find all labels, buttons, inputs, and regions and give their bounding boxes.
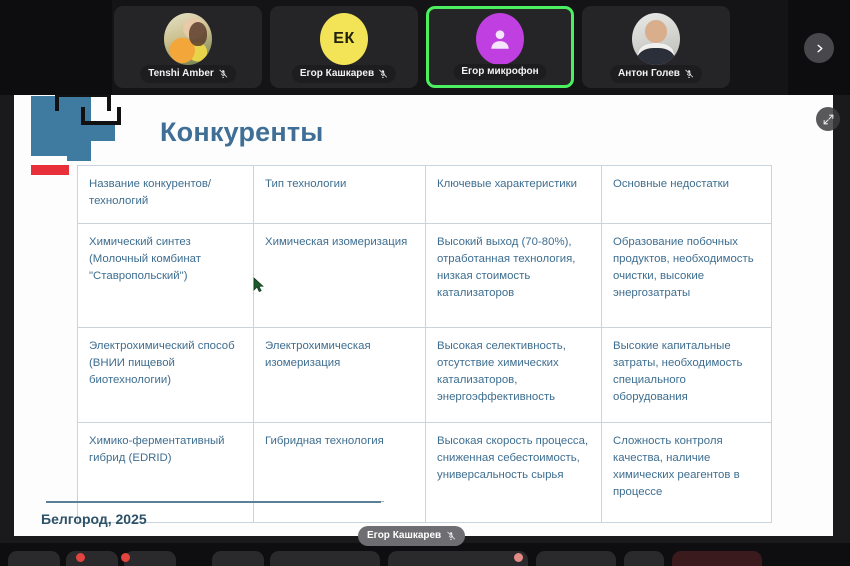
table-row: Химико-ферментативный гибрид (EDRID) Гиб… — [78, 423, 772, 523]
cell-features: Высокая скорость процесса, сниженная себ… — [426, 423, 602, 523]
avatar-initials: ЕК — [320, 13, 368, 65]
toolbar-button-3[interactable] — [124, 551, 176, 566]
participant-name-pill: Антон Голев — [610, 65, 702, 83]
presenter-name-badge: Егор Кашкарев — [358, 526, 465, 546]
toolbar-button-7[interactable] — [536, 551, 616, 566]
participant-name: Антон Голев — [618, 69, 680, 79]
cell-name: Химико-ферментативный гибрид (EDRID) — [78, 423, 254, 523]
participant-name: Tenshi Amber — [148, 69, 214, 79]
toolbar-button-5[interactable] — [270, 551, 380, 566]
footer-rule — [46, 501, 381, 503]
conference-participant-strip: Tenshi Amber ЕК Егор Кашкарев — [0, 0, 850, 95]
participant-name-pill: Tenshi Amber — [140, 65, 236, 83]
toolbar-button-8[interactable] — [624, 551, 664, 566]
toolbar-leave-button[interactable] — [672, 551, 762, 566]
chevron-right-icon — [814, 43, 825, 54]
notification-dot-2 — [121, 553, 130, 562]
microphone-off-icon — [218, 68, 228, 80]
microphone-off-icon — [446, 530, 456, 542]
avatar — [164, 13, 212, 65]
toolbar-button-2[interactable] — [66, 551, 118, 566]
microphone-off-icon — [378, 68, 388, 80]
slide-title: Конкуренты — [160, 117, 324, 148]
presenter-name: Егор Кашкарев — [367, 531, 441, 541]
strip-left-gutter — [0, 0, 112, 95]
cell-name: Электрохимический способ (ВНИИ пищевой б… — [78, 328, 254, 423]
recording-dot — [514, 553, 523, 562]
cell-name: Химический синтез (Молочный комбинат "Ст… — [78, 224, 254, 328]
microphone-off-icon — [684, 68, 694, 80]
table-header-row: Название конкурентов/технологий Тип техн… — [78, 166, 772, 224]
presentation-slide: Конкуренты Название конкурентов/технолог… — [14, 95, 833, 536]
cell-type: Гибридная технология — [254, 423, 426, 523]
cell-features: Высокая селективность, отсутствие химиче… — [426, 328, 602, 423]
meeting-toolbar[interactable] — [0, 543, 850, 566]
column-header-type: Тип технологии — [254, 166, 426, 224]
cell-drawbacks: Высокие капитальные затраты, необходимос… — [602, 328, 772, 423]
column-header-name: Название конкурентов/технологий — [78, 166, 254, 224]
slide-footer-text: Белгород, 2025 — [41, 511, 147, 527]
person-icon — [487, 26, 513, 52]
expand-fullscreen-button[interactable] — [816, 107, 840, 131]
table-row: Химический синтез (Молочный комбинат "Ст… — [78, 224, 772, 328]
expand-fullscreen-icon — [822, 113, 835, 126]
cell-drawbacks: Сложность контроля качества, наличие хим… — [602, 423, 772, 523]
cell-features: Высокий выход (70-80%), отработанная тех… — [426, 224, 602, 328]
participant-name-pill: Егор Кашкарев — [292, 65, 396, 83]
toolbar-button-4[interactable] — [212, 551, 264, 566]
participant-tile-4[interactable]: Антон Голев — [582, 6, 730, 88]
participant-name: Егор микрофон — [461, 67, 538, 77]
competitors-table: Название конкурентов/технологий Тип техн… — [77, 165, 772, 523]
participant-name: Егор Кашкарев — [300, 69, 374, 79]
participant-tile-3-active-speaker[interactable]: Егор микрофон — [426, 6, 574, 88]
toolbar-button-6[interactable] — [388, 551, 528, 566]
next-participants-button[interactable] — [804, 33, 834, 63]
toolbar-button-1[interactable] — [8, 551, 60, 566]
cell-type: Электрохимическая изомеризация — [254, 328, 426, 423]
shared-screen-viewer[interactable]: Конкуренты Название конкурентов/технолог… — [0, 95, 850, 543]
avatar-placeholder — [476, 13, 524, 65]
cell-drawbacks: Образование побочных продуктов, необходи… — [602, 224, 772, 328]
cell-type: Химическая изомеризация — [254, 224, 426, 328]
participant-name-pill: Егор микрофон — [453, 64, 546, 80]
column-header-features: Ключевые характеристики — [426, 166, 602, 224]
table-row: Электрохимический способ (ВНИИ пищевой б… — [78, 328, 772, 423]
avatar — [632, 13, 680, 65]
participant-tile-1[interactable]: Tenshi Amber — [114, 6, 262, 88]
notification-dot-1 — [76, 553, 85, 562]
participant-tile-2[interactable]: ЕК Егор Кашкарев — [270, 6, 418, 88]
column-header-drawbacks: Основные недостатки — [602, 166, 772, 224]
